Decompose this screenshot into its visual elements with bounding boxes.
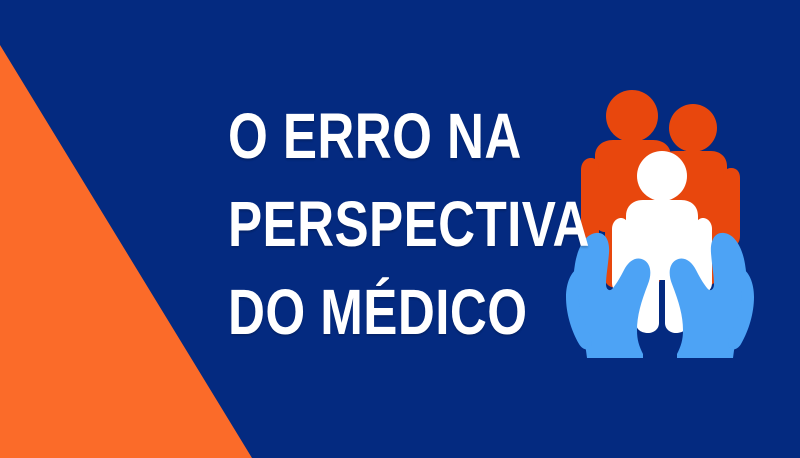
page-title: O ERRO NA PERSPECTIVA DO MÉDICO bbox=[228, 92, 588, 356]
title-line-3: DO MÉDICO bbox=[228, 268, 516, 356]
poster-banner: O ERRO NA PERSPECTIVA DO MÉDICO bbox=[0, 0, 800, 458]
hands-holding-people-icon bbox=[565, 78, 755, 358]
title-line-1: O ERRO NA bbox=[228, 92, 516, 180]
title-line-2: PERSPECTIVA bbox=[228, 180, 516, 268]
